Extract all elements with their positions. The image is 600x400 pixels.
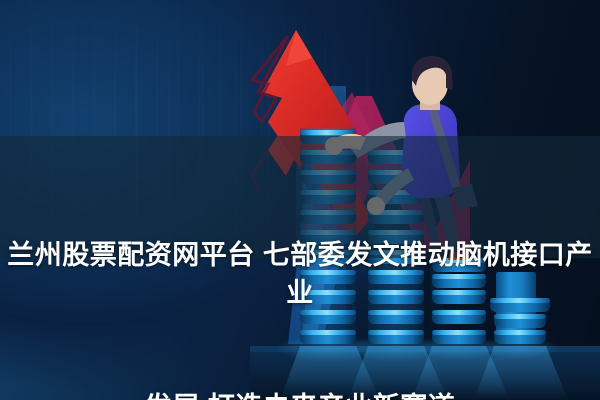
headline-line-1: 兰州股票配资网平台 七部委发文推动脑机接口产业: [0, 236, 600, 312]
page-title: 兰州股票配资网平台 七部委发文推动脑机接口产业 发展 打造未来产业新赛道: [0, 160, 600, 400]
headline-line-2: 发展 打造未来产业新赛道: [0, 388, 600, 400]
banner-image: 兰州股票配资网平台 七部委发文推动脑机接口产业 发展 打造未来产业新赛道: [0, 0, 600, 400]
